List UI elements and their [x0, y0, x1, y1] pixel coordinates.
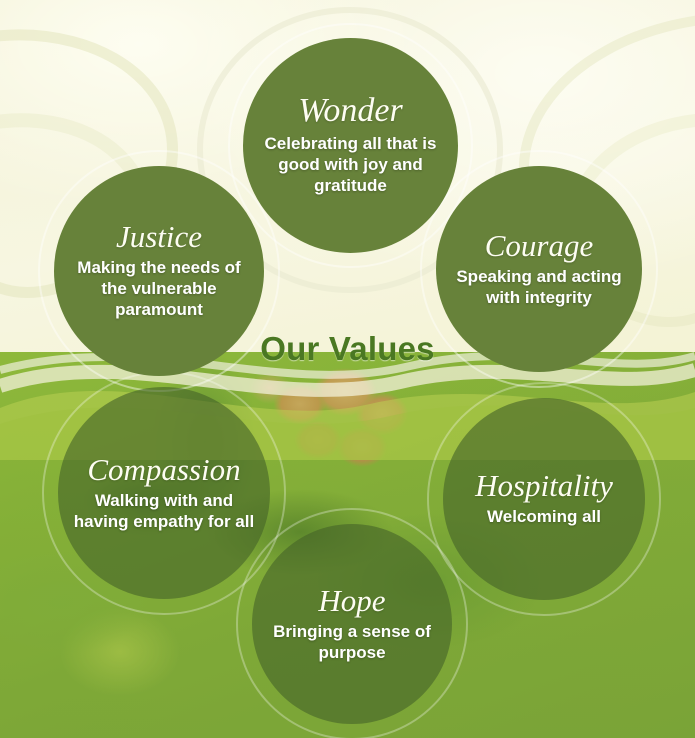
value-title-hospitality: Hospitality [475, 470, 613, 501]
our-values-poster: Our Values Wonder Celebrating all that i… [0, 0, 695, 738]
value-description-hope: Bringing a sense of purpose [266, 622, 438, 663]
value-circle-wonder[interactable]: Wonder Celebrating all that is good with… [243, 38, 458, 253]
value-title-justice: Justice [116, 221, 202, 252]
value-title-wonder: Wonder [298, 94, 403, 128]
value-circle-hospitality[interactable]: Hospitality Welcoming all [443, 398, 645, 600]
value-title-hope: Hope [318, 585, 385, 616]
value-circle-hope[interactable]: Hope Bringing a sense of purpose [252, 524, 452, 724]
value-description-courage: Speaking and acting with integrity [450, 267, 628, 308]
value-title-courage: Courage [485, 230, 594, 261]
value-description-hospitality: Welcoming all [487, 507, 601, 528]
value-title-compassion: Compassion [87, 454, 240, 485]
value-description-justice: Making the needs of the vulnerable param… [68, 258, 250, 320]
value-description-compassion: Walking with and having empathy for all [72, 491, 256, 532]
value-circle-compassion[interactable]: Compassion Walking with and having empat… [58, 387, 270, 599]
value-description-wonder: Celebrating all that is good with joy an… [257, 134, 444, 196]
page-title: Our Values [0, 330, 695, 368]
